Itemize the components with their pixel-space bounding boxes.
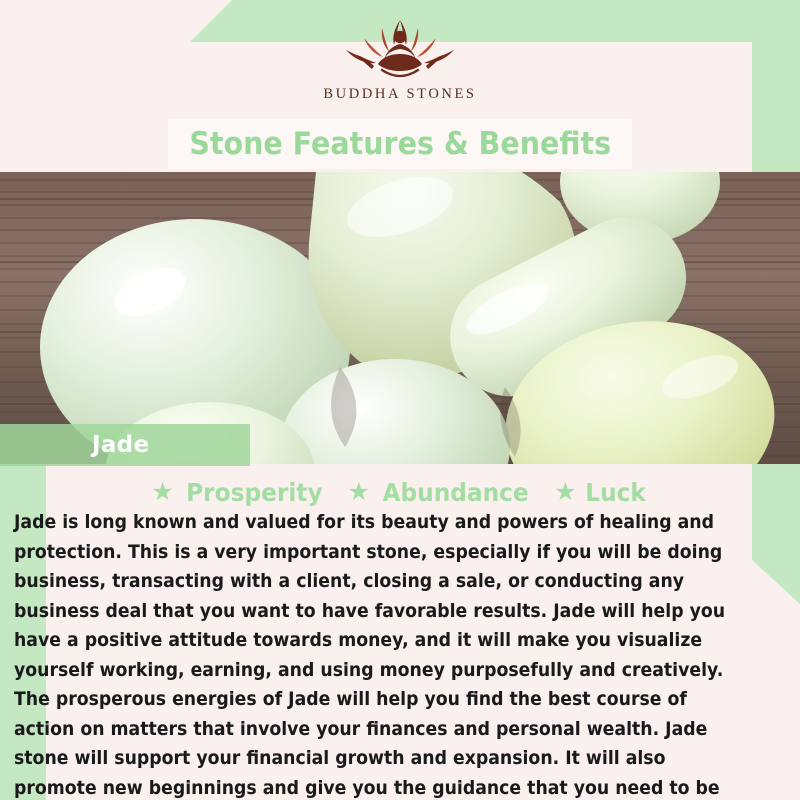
stone-name-band: Jade xyxy=(0,424,250,466)
stone-name: Jade xyxy=(92,432,149,458)
benefits-list: ★ Prosperity ★ Abundance ★ Luck xyxy=(0,478,800,507)
brand-logo: BUDDHA STONES xyxy=(0,14,800,114)
stone-photo xyxy=(0,172,800,464)
benefit-label: Prosperity xyxy=(186,478,322,507)
page-title: Stone Features & Benefits xyxy=(189,126,611,162)
lotus-meditation-icon xyxy=(334,14,466,84)
benefit-label: Abundance xyxy=(382,478,528,507)
title-banner: Stone Features & Benefits xyxy=(168,119,632,169)
stone-info-poster: BUDDHA STONES Stone Features & Benefits xyxy=(0,0,800,800)
benefit-item: ★ Prosperity xyxy=(151,478,327,507)
benefit-label: Luck xyxy=(586,478,647,507)
stone-description: Jade is long known and valued for its be… xyxy=(14,508,735,800)
star-icon: ★ xyxy=(554,480,576,505)
benefit-item: ★ Luck xyxy=(554,478,649,507)
brand-wordmark: BUDDHA STONES xyxy=(323,86,476,103)
star-icon: ★ xyxy=(151,480,173,505)
benefit-item: ★ Abundance xyxy=(347,478,534,507)
star-icon: ★ xyxy=(347,480,369,505)
